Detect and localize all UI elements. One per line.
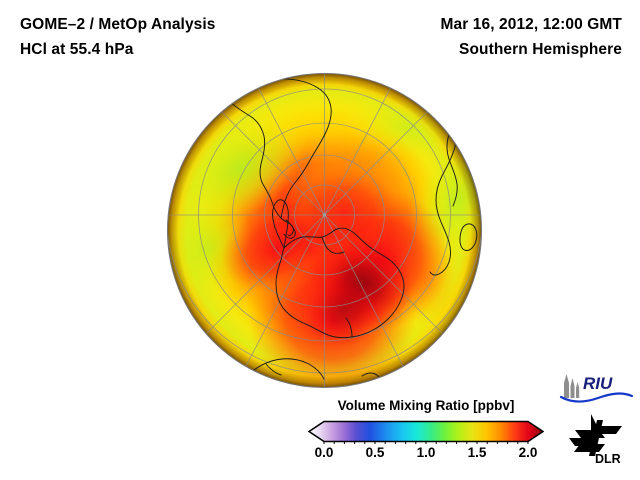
dlr-logo-svg: DLR (567, 412, 629, 466)
timestamp-label: Mar 16, 2012, 12:00 GMT (440, 16, 622, 34)
colorbar-legend: Volume Mixing Ratio [ppbv] 0.00.51.01.52… (308, 398, 544, 472)
colorbar-tick-label: 0.5 (366, 445, 385, 460)
colorbar-tick-label: 1.0 (417, 445, 436, 460)
colorbar-title: Volume Mixing Ratio [ppbv] (308, 398, 544, 413)
dlr-mark-icon (569, 414, 622, 456)
page-subtitle: HCl at 55.4 hPa (20, 41, 134, 59)
colorbar-swatch (308, 420, 544, 444)
south-pole-marker (323, 213, 326, 216)
globe-map (166, 72, 483, 389)
colorbar-tick-labels: 0.00.51.01.52.0 (308, 445, 544, 465)
riu-wordmark: RIU (583, 374, 613, 393)
hemisphere-label: Southern Hemisphere (459, 41, 622, 59)
colorbar-body (309, 422, 543, 442)
dlr-logo: DLR (567, 412, 629, 466)
colorbar-tick-label: 1.5 (468, 445, 487, 460)
colorbar-ticks (324, 442, 528, 445)
figure-canvas: GOME–2 / MetOp Analysis HCl at 55.4 hPa … (0, 0, 640, 480)
colorbar-tick-label: 2.0 (519, 445, 538, 460)
colorbar-tick-label: 0.0 (315, 445, 334, 460)
riu-logo-svg: RIU (558, 372, 634, 404)
globe-svg (166, 72, 483, 389)
dlr-wordmark: DLR (595, 452, 621, 466)
riu-logo: RIU (558, 372, 634, 404)
page-title: GOME–2 / MetOp Analysis (20, 16, 216, 34)
riu-spires-icon (564, 374, 579, 398)
